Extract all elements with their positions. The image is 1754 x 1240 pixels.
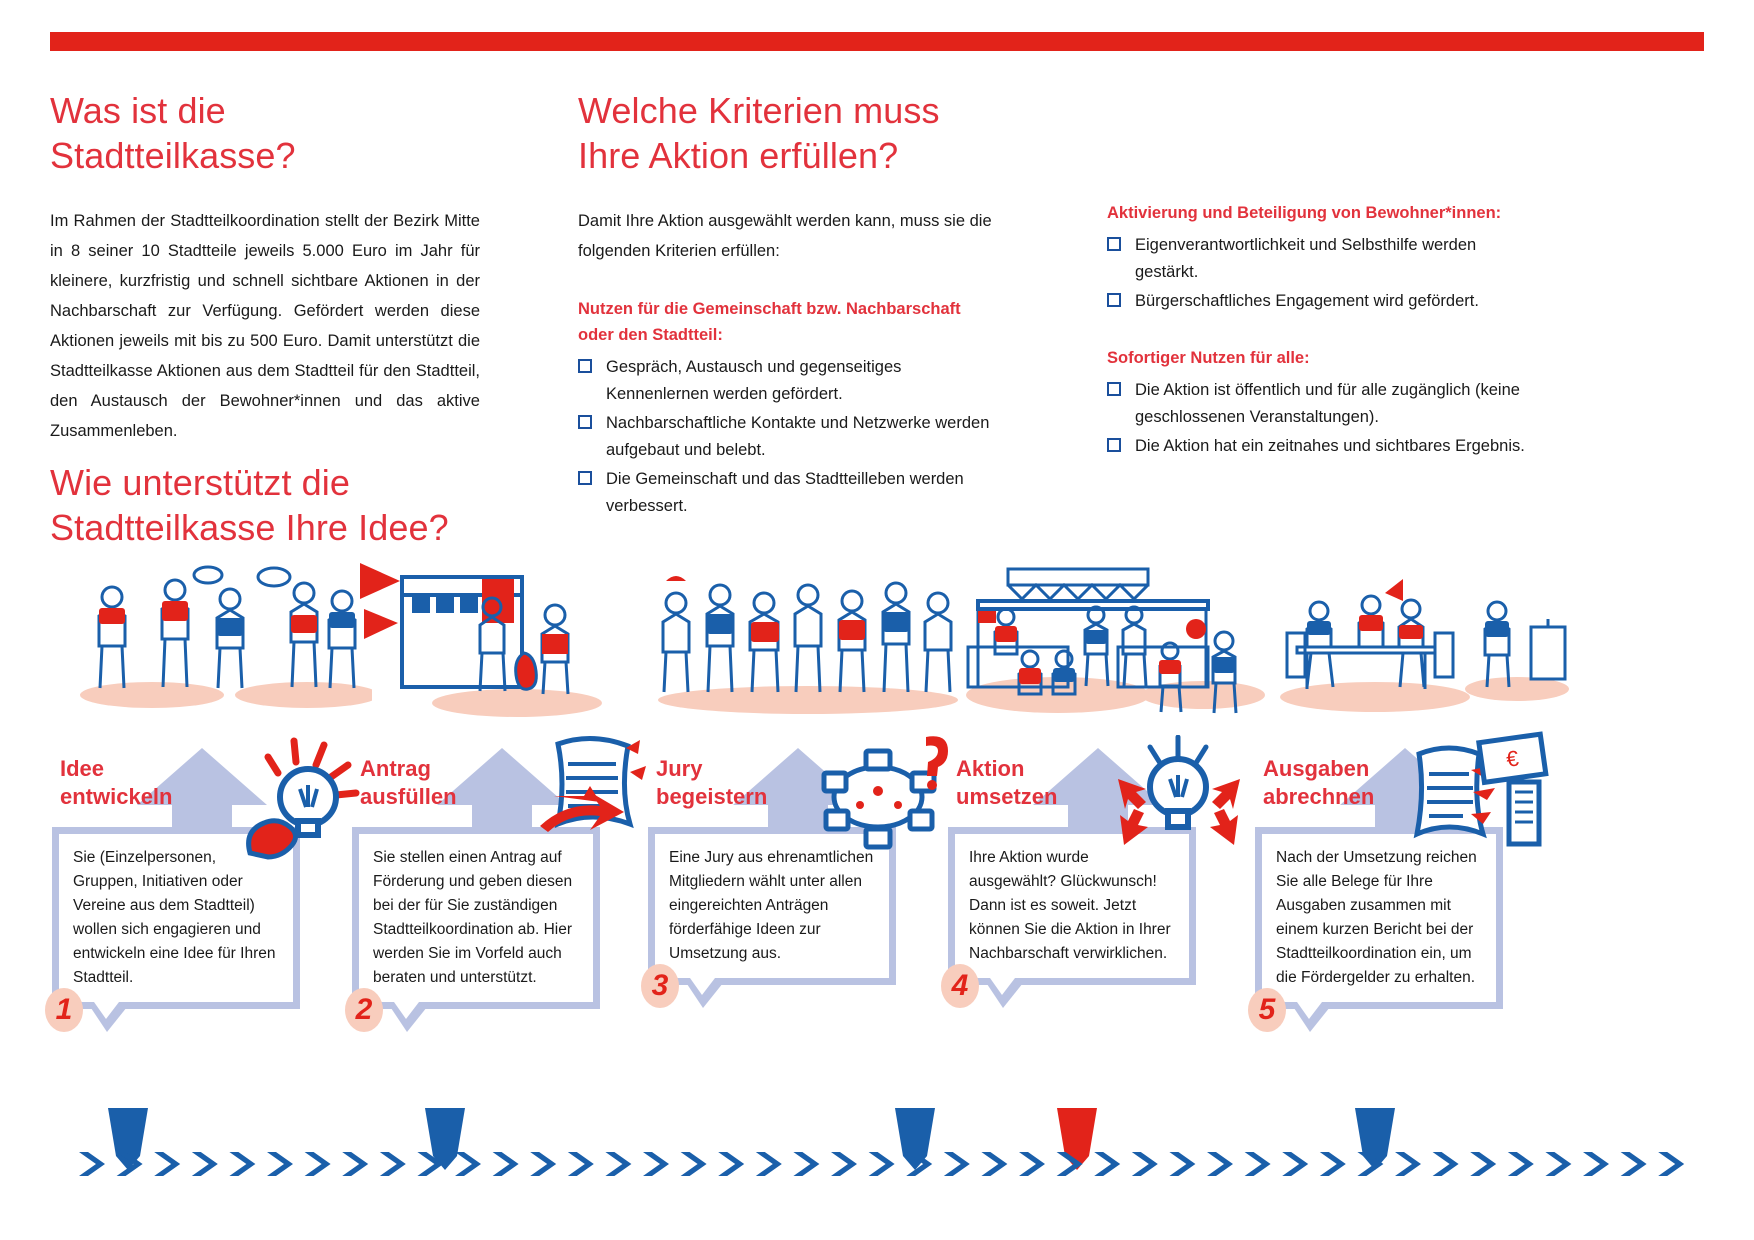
step-title: Idee entwickeln (60, 755, 172, 811)
chevron-icon (1470, 1152, 1496, 1176)
criteria-item[interactable]: Die Aktion hat ein zeitnahes und sichtba… (1107, 433, 1537, 460)
step-number-badge: 5 (1248, 988, 1286, 1032)
step-number: 3 (652, 971, 669, 1001)
chevron-icon (1508, 1152, 1534, 1176)
chevron-icon (79, 1152, 105, 1176)
criteria-item[interactable]: Gespräch, Austausch und gegenseitiges Ke… (578, 354, 1008, 408)
chevron-icon (718, 1152, 744, 1176)
checkbox-icon[interactable] (1107, 293, 1121, 307)
page-title-criteria: Welche Kriterien muss Ihre Aktion erfüll… (578, 88, 1008, 178)
step-number-badge: 1 (45, 988, 83, 1032)
checkbox-icon[interactable] (578, 359, 592, 373)
chevron-icon (267, 1152, 293, 1176)
chevron-icon (869, 1152, 895, 1176)
criteria-group-title: Nutzen für die Gemeinschaft bzw. Nachbar… (578, 296, 1008, 348)
criteria-group-community: Nutzen für die Gemeinschaft bzw. Nachbar… (578, 296, 1008, 520)
criteria-checklist: Eigenverantwortlichkeit und Selbsthilfe … (1107, 232, 1537, 315)
process-step-2: Antrag ausfüllen Sie stellen einen Antra… (342, 555, 672, 1075)
crowd-standing-scene (638, 555, 968, 735)
criteria-group-activation: Aktivierung und Beteiligung von Bewohner… (1107, 200, 1537, 315)
page-title-what: Was ist die Stadtteilkasse? (50, 88, 480, 178)
step-number-badge: 2 (345, 988, 383, 1032)
checkbox-icon[interactable] (1107, 382, 1121, 396)
criteria-item[interactable]: Die Aktion ist öffentlich und für alle z… (1107, 377, 1537, 431)
criteria-intro-text: Damit Ihre Aktion ausgewählt werden kann… (578, 206, 1008, 266)
criteria-item-label: Bürgerschaftliches Engagement wird geför… (1135, 292, 1479, 310)
step-number: 4 (952, 971, 969, 1001)
receipt-euro-icon: € (1405, 730, 1550, 855)
chevron-icon (530, 1152, 556, 1176)
step-marker-triangle-1 (108, 1108, 148, 1170)
what-body-text: Im Rahmen der Stadtteilkoordination stel… (50, 206, 480, 446)
criteria-group-immediate-benefit: Sofortiger Nutzen für alle: Die Aktion i… (1107, 345, 1537, 460)
criteria-item[interactable]: Bürgerschaftliches Engagement wird geför… (1107, 288, 1537, 315)
chevron-icon (1658, 1152, 1684, 1176)
chevron-icon (154, 1152, 180, 1176)
section-criteria-right: Aktivierung und Beteiligung von Bewohner… (1107, 200, 1537, 462)
section-what-is-stadtteilkasse: Was ist die Stadtteilkasse? Im Rahmen de… (50, 88, 480, 446)
checkbox-icon[interactable] (578, 415, 592, 429)
meeting-table-scene (1245, 555, 1575, 735)
criteria-item-label: Gespräch, Austausch und gegenseitiges Ke… (606, 358, 901, 403)
criteria-item[interactable]: Nachbarschaftliche Kontakte und Netzwerk… (578, 410, 1008, 464)
chevron-icon (944, 1152, 970, 1176)
process-step-5: Ausgaben abrechnen € Nach der Umsetzung … (1245, 555, 1575, 1075)
bubble-tail (387, 1002, 431, 1032)
bubble-tail (1290, 1002, 1334, 1032)
chevron-icon (493, 1152, 519, 1176)
chevron-icon (455, 1152, 481, 1176)
chevron-icon (981, 1152, 1007, 1176)
chevron-icon (1433, 1152, 1459, 1176)
step-text: Eine Jury aus ehrenamtlichen Mitgliedern… (669, 846, 879, 966)
chevron-icon (831, 1152, 857, 1176)
document-arrow-icon (534, 730, 664, 850)
step-bubble: Sie stellen einen Antrag auf Förderung u… (352, 827, 600, 1009)
step-title: Jury begeistern (656, 755, 767, 811)
chevron-icon (1132, 1152, 1158, 1176)
criteria-group-title: Aktivierung und Beteiligung von Bewohner… (1107, 200, 1537, 226)
criteria-item[interactable]: Eigenverantwortlichkeit und Selbsthilfe … (1107, 232, 1537, 286)
section-how-heading-wrap: Wie unterstützt die Stadtteilkasse Ihre … (50, 460, 610, 550)
process-steps: Idee entwickeln Sie (Einzelpersonen, Gru… (0, 555, 1754, 1075)
chevron-icon (756, 1152, 782, 1176)
chevron-icon (342, 1152, 368, 1176)
chevron-icon (568, 1152, 594, 1176)
chevron-icon (643, 1152, 669, 1176)
bubble-tail (87, 1002, 131, 1032)
step-title: Antrag ausfüllen (360, 755, 457, 811)
office-counter-scene (342, 555, 672, 735)
chevron-icon (305, 1152, 331, 1176)
chevron-icon (793, 1152, 819, 1176)
chevron-icon (1545, 1152, 1571, 1176)
step-title: Ausgaben abrechnen (1263, 755, 1374, 811)
round-table-question-icon (816, 735, 956, 855)
bubble-tail (683, 978, 727, 1008)
page-title-how: Wie unterstützt die Stadtteilkasse Ihre … (50, 460, 610, 550)
chevron-icon (1395, 1152, 1421, 1176)
chevron-icon (1245, 1152, 1271, 1176)
step-number: 5 (1259, 995, 1276, 1025)
criteria-checklist: Gespräch, Austausch und gegenseitiges Ke… (578, 354, 1008, 520)
chevron-icon (1282, 1152, 1308, 1176)
criteria-item[interactable]: Die Gemeinschaft und das Stadtteilleben … (578, 466, 1008, 520)
process-step-4: Aktion umsetzen Ihre Aktion wurde ausgew… (938, 555, 1268, 1075)
checkbox-icon[interactable] (1107, 438, 1121, 452)
criteria-item-label: Nachbarschaftliche Kontakte und Netzwerk… (606, 414, 989, 459)
chevron-row (79, 1152, 1684, 1176)
chevron-icon (1207, 1152, 1233, 1176)
step-number: 2 (356, 995, 373, 1025)
chevron-icon (681, 1152, 707, 1176)
lightbulb-hand-icon (232, 735, 362, 860)
chevron-icon (1583, 1152, 1609, 1176)
step-title: Aktion umsetzen (956, 755, 1057, 811)
checkbox-icon[interactable] (1107, 237, 1121, 251)
chevron-icon (192, 1152, 218, 1176)
infographic-page: Was ist die Stadtteilkasse? Im Rahmen de… (0, 0, 1754, 1240)
chevron-icon (1320, 1152, 1346, 1176)
criteria-item-label: Die Gemeinschaft und das Stadtteilleben … (606, 470, 964, 515)
criteria-item-label: Die Aktion ist öffentlich und für alle z… (1135, 381, 1520, 426)
step-text: Sie (Einzelpersonen, Gruppen, Initiative… (73, 846, 283, 990)
process-step-1: Idee entwickeln Sie (Einzelpersonen, Gru… (42, 555, 372, 1075)
criteria-item-label: Eigenverantwortlichkeit und Selbsthilfe … (1135, 236, 1476, 281)
people-talking-scene (42, 555, 372, 735)
criteria-checklist: Die Aktion ist öffentlich und für alle z… (1107, 377, 1537, 460)
step-number: 1 (56, 995, 73, 1025)
step-number-badge: 4 (941, 964, 979, 1008)
chevron-icon (380, 1152, 406, 1176)
step-text: Ihre Aktion wurde ausgewählt? Glückwunsc… (969, 846, 1179, 966)
criteria-group-title: Sofortiger Nutzen für alle: (1107, 345, 1537, 371)
top-red-rule (50, 32, 1704, 51)
step-marker-triangle-3 (895, 1108, 935, 1170)
step-number-badge: 3 (641, 964, 679, 1008)
street-fest-scene (938, 555, 1268, 735)
chevron-icon (605, 1152, 631, 1176)
step-text: Sie stellen einen Antrag auf Förderung u… (373, 846, 583, 990)
chevron-icon (1621, 1152, 1647, 1176)
process-step-3: Jury begeistern (638, 555, 968, 1075)
bubble-tail (983, 978, 1027, 1008)
bottom-chevron-band (0, 1108, 1754, 1188)
step-text: Nach der Umsetzung reichen Sie alle Bele… (1276, 846, 1486, 990)
criteria-item-label: Die Aktion hat ein zeitnahes und sichtba… (1135, 437, 1525, 455)
lightbulb-arrows-icon (1116, 735, 1246, 855)
section-criteria: Welche Kriterien muss Ihre Aktion erfüll… (578, 88, 1008, 522)
chevron-icon (1169, 1152, 1195, 1176)
chevron-icon (229, 1152, 255, 1176)
chevron-icon (1094, 1152, 1120, 1176)
chevron-icon (1019, 1152, 1045, 1176)
